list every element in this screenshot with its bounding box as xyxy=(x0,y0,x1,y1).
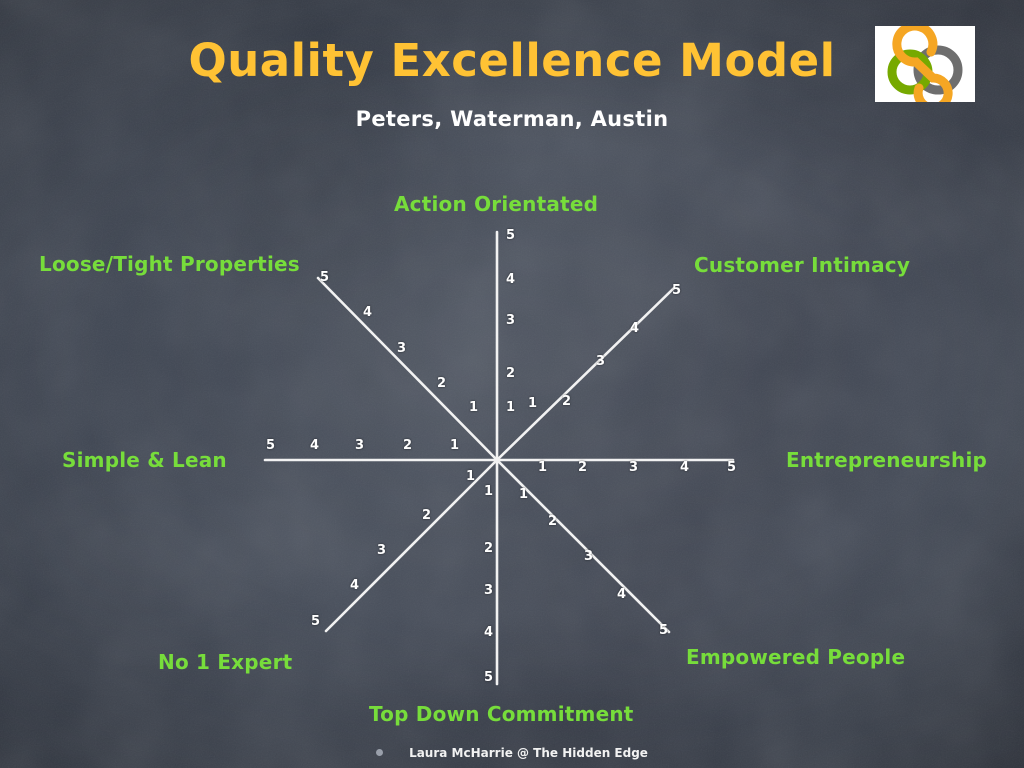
tick-entrepreneurship-4: 4 xyxy=(680,460,689,475)
tick-simple-and-lean-5: 5 xyxy=(266,438,275,453)
tick-customer-intimacy-3: 3 xyxy=(596,354,605,369)
tick-entrepreneurship-3: 3 xyxy=(629,460,638,475)
tick-action-orientated-4: 4 xyxy=(506,272,515,287)
axis-line-no-1-expert xyxy=(326,460,497,631)
tick-top-down-commitment-3: 3 xyxy=(484,583,493,598)
axis-label-no-1-expert: No 1 Expert xyxy=(158,650,292,674)
tick-no-1-expert-3: 3 xyxy=(377,543,386,558)
axis-label-top-down-commitment: Top Down Commitment xyxy=(369,702,634,726)
tick-top-down-commitment-4: 4 xyxy=(484,625,493,640)
tick-loose-tight-properties-5: 5 xyxy=(320,270,329,285)
tick-simple-and-lean-2: 2 xyxy=(403,438,412,453)
axis-line-loose-tight-properties xyxy=(318,278,497,460)
tick-entrepreneurship-5: 5 xyxy=(727,460,736,475)
axis-label-action-orientated: Action Orientated xyxy=(394,192,598,216)
axis-label-loose-tight-properties: Loose/Tight Properties xyxy=(39,252,300,276)
tick-empowered-people-1: 1 xyxy=(519,487,528,502)
tick-action-orientated-1: 1 xyxy=(506,400,515,415)
tick-customer-intimacy-1: 1 xyxy=(528,396,537,411)
tick-loose-tight-properties-4: 4 xyxy=(363,305,372,320)
axis-label-entrepreneurship: Entrepreneurship xyxy=(786,448,987,472)
tick-empowered-people-4: 4 xyxy=(617,587,626,602)
tick-customer-intimacy-2: 2 xyxy=(562,394,571,409)
tick-empowered-people-3: 3 xyxy=(584,549,593,564)
slide-canvas: Quality Excellence Model Peters, Waterma… xyxy=(0,0,1024,768)
tick-top-down-commitment-5: 5 xyxy=(484,670,493,685)
tick-top-down-commitment-2: 2 xyxy=(484,541,493,556)
tick-entrepreneurship-2: 2 xyxy=(578,460,587,475)
tick-loose-tight-properties-1: 1 xyxy=(469,400,478,415)
tick-customer-intimacy-4: 4 xyxy=(630,321,639,336)
axis-label-empowered-people: Empowered People xyxy=(686,645,905,669)
tick-empowered-people-2: 2 xyxy=(548,514,557,529)
axis-label-simple-and-lean: Simple & Lean xyxy=(62,448,227,472)
tick-simple-and-lean-1: 1 xyxy=(450,438,459,453)
tick-action-orientated-2: 2 xyxy=(506,366,515,381)
tick-empowered-people-5: 5 xyxy=(659,623,668,638)
footer-credit: Laura McHarrie @ The Hidden Edge xyxy=(409,746,648,760)
axis-line-empowered-people xyxy=(497,460,669,632)
tick-simple-and-lean-3: 3 xyxy=(355,438,364,453)
tick-entrepreneurship-1: 1 xyxy=(538,460,547,475)
tick-no-1-expert-1: 1 xyxy=(466,469,475,484)
tick-loose-tight-properties-3: 3 xyxy=(397,341,406,356)
tick-no-1-expert-4: 4 xyxy=(350,578,359,593)
axis-line-customer-intimacy xyxy=(497,288,674,460)
tick-top-down-commitment-1: 1 xyxy=(484,484,493,499)
bullet-icon xyxy=(376,749,383,756)
tick-customer-intimacy-5: 5 xyxy=(672,283,681,298)
tick-no-1-expert-5: 5 xyxy=(311,614,320,629)
tick-loose-tight-properties-2: 2 xyxy=(437,376,446,391)
footer: Laura McHarrie @ The Hidden Edge xyxy=(0,746,1024,760)
tick-action-orientated-5: 5 xyxy=(506,228,515,243)
tick-action-orientated-3: 3 xyxy=(506,313,515,328)
axis-label-customer-intimacy: Customer Intimacy xyxy=(694,253,910,277)
tick-simple-and-lean-4: 4 xyxy=(310,438,319,453)
tick-no-1-expert-2: 2 xyxy=(422,508,431,523)
